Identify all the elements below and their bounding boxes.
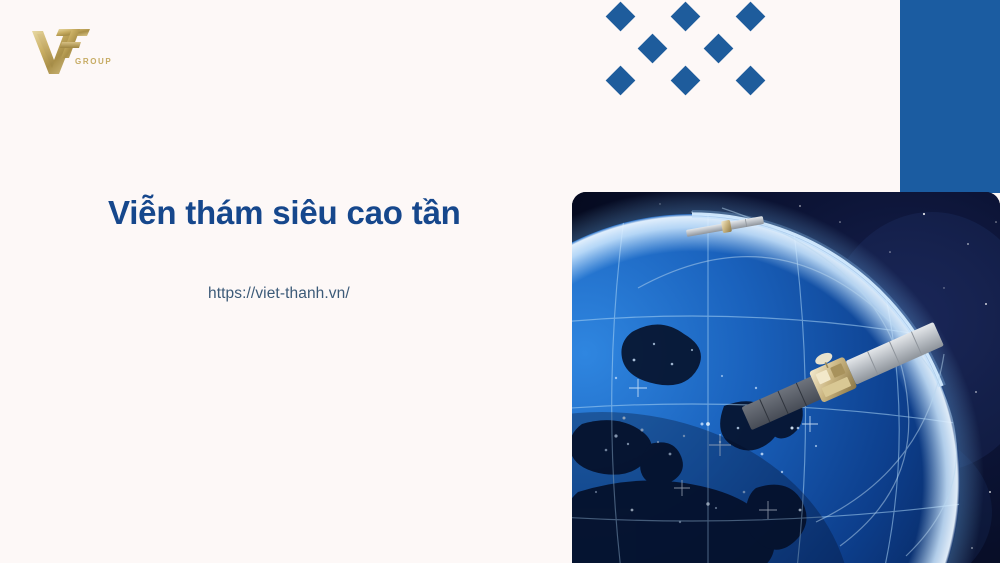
decor-diamond xyxy=(736,66,766,96)
decor-diamond xyxy=(671,66,701,96)
decor-diamond xyxy=(704,34,734,64)
decor-diamond xyxy=(606,2,636,32)
decor-blue-bar xyxy=(900,0,1000,193)
earth-satellite-network-photo xyxy=(572,192,1000,563)
page-title: Viễn thám siêu cao tần xyxy=(108,192,528,233)
vt-group-logo[interactable]: GROUP xyxy=(28,24,112,78)
slide-canvas: GROUP Viễn thám siêu cao tần https://vie… xyxy=(0,0,1000,563)
decor-diamond xyxy=(736,2,766,32)
logo-wordmark: GROUP xyxy=(75,57,112,66)
decor-diamond-grid xyxy=(596,0,786,100)
decor-diamond xyxy=(638,34,668,64)
website-url[interactable]: https://viet-thanh.vn/ xyxy=(108,233,528,303)
decor-diamond xyxy=(671,2,701,32)
headline-block: Viễn thám siêu cao tần https://viet-than… xyxy=(108,192,528,303)
vt-monogram-icon xyxy=(28,24,112,78)
decor-diamond xyxy=(606,66,636,96)
earth-satellite-illustration xyxy=(572,192,1000,563)
